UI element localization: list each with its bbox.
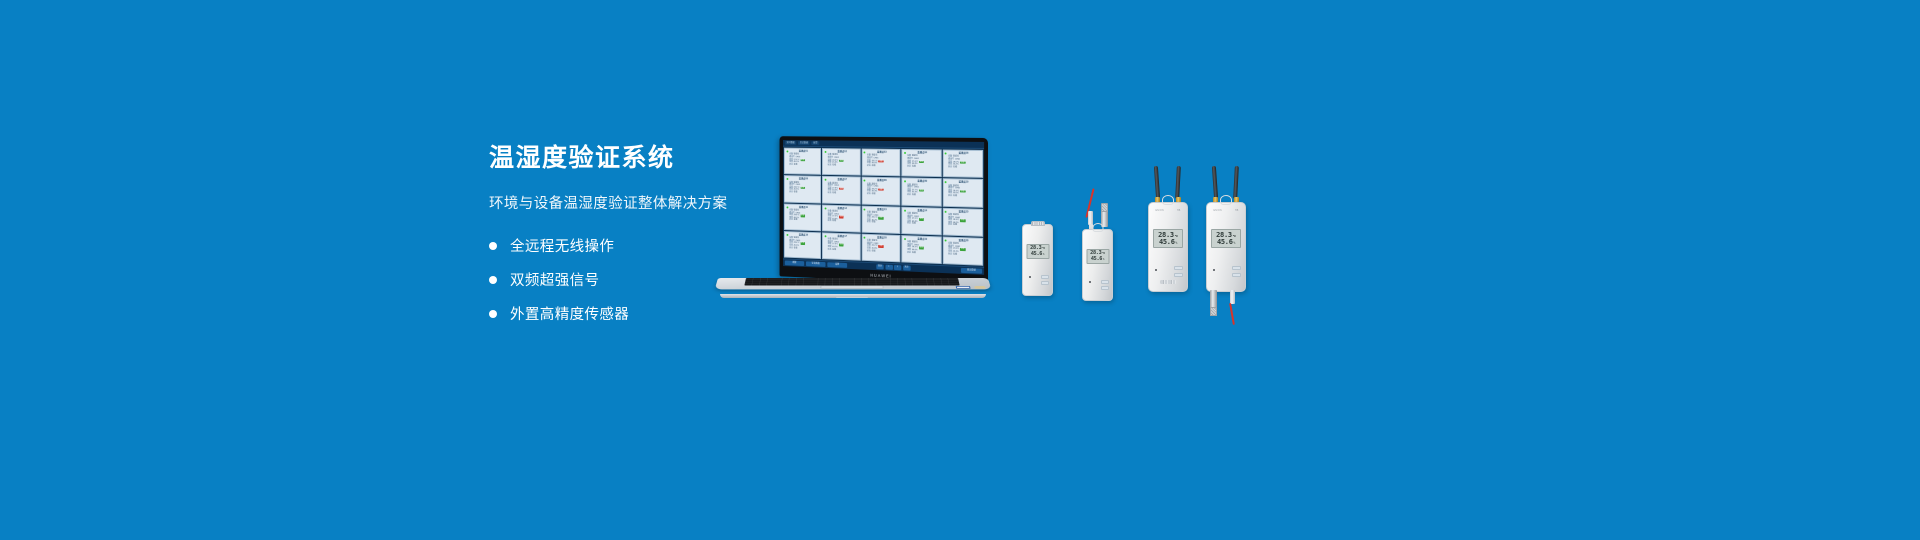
sensor-device-group: 28.3 ℃ 45.6 %: [1000, 180, 1230, 320]
device-led-icon: [1155, 269, 1157, 271]
sensor-card[interactable]: 监测点07设备验证仪通道号CH01温度27.8℃报警湿度44.5%状态在线: [822, 176, 860, 204]
sensor-card-value: 在线: [794, 192, 798, 195]
device-brand-row: EN/ON HB: [1207, 210, 1245, 212]
sensor-card-key: 状态: [948, 253, 952, 256]
lcd-humidity-unit: %: [1175, 242, 1177, 245]
tab-alarm[interactable]: 报警: [812, 141, 820, 145]
sensor-card-row: 状态在线: [946, 195, 981, 198]
antenna-right-icon: [1233, 166, 1239, 199]
sensor-status-badge: 正常: [800, 242, 805, 245]
lcd-humidity-value: 45.6: [1091, 257, 1102, 262]
humidity-probe-filter-icon: [1210, 307, 1217, 316]
probe-wire: [1229, 303, 1234, 325]
sensor-card-value: 在线: [872, 193, 876, 196]
sensor-card[interactable]: 监测点08设备验证仪通道号CH01温度28.2℃报警湿度46.3%状态在线: [861, 177, 900, 205]
sensor-status-badge: 正常: [960, 219, 965, 222]
bullet-dot-icon: [489, 242, 497, 250]
page-1-button[interactable]: 1: [885, 265, 892, 270]
humidity-probe-filter-icon: [1101, 203, 1108, 212]
device-hanging-loop: [1092, 223, 1103, 232]
sensor-status-badge: 正常: [800, 215, 805, 218]
status-led-icon: [825, 235, 827, 237]
sensor-card-row: 状态在线: [946, 224, 981, 228]
sensor-card[interactable]: 监测点15设备验证仪通道号CH01温度28.3℃正常湿度46.2%状态在线: [942, 207, 983, 236]
device-body: EN/ON HB 28.3 ℃ 45.6 %: [1206, 202, 1246, 292]
device-lcd: 28.3 ℃ 45.6 %: [1153, 229, 1183, 248]
sensor-card-key: 状态: [828, 192, 832, 195]
sensor-card-row: 状态在线: [946, 166, 981, 169]
sensor-card-key: 状态: [907, 166, 911, 169]
lcd-temperature-unit: ℃: [1233, 235, 1236, 238]
sensor-card-row: 状态在线: [905, 223, 939, 227]
sensor-card-key: 状态: [789, 191, 793, 194]
sensor-card-key: 状态: [828, 248, 832, 251]
device-lcd: 28.3 ℃ 45.6 %: [1086, 249, 1109, 264]
status-led-icon: [786, 178, 788, 180]
sensor-card-key: 状态: [907, 194, 911, 197]
page-2-button[interactable]: 2: [894, 265, 901, 270]
device-hanging-loop: [1220, 195, 1232, 205]
sensor-grill-icon: [1031, 221, 1045, 226]
status-led-icon: [904, 181, 906, 183]
sensor-card[interactable]: 监测点05设备验证仪通道号CH01温度28.0℃正常湿度45.2%状态在线: [942, 149, 983, 178]
device-hanging-loop: [1162, 195, 1174, 205]
export-button[interactable]: 导出报表: [806, 261, 826, 267]
device-button-pad[interactable]: [1041, 275, 1049, 286]
sensor-card-key: 状态: [867, 250, 871, 253]
status-led-icon: [825, 151, 827, 153]
sensor-status-badge: 正常: [919, 218, 924, 221]
sensor-card-value: 在线: [953, 195, 957, 198]
device-brand-left: EN/ON: [1214, 210, 1222, 212]
sensor-card-key: 状态: [867, 165, 871, 168]
device-button-up[interactable]: [1101, 280, 1109, 284]
status-led-icon: [786, 234, 788, 236]
sensor-status-badge: 正常: [919, 161, 924, 164]
device-button-pad[interactable]: [1232, 266, 1241, 278]
sensor-card[interactable]: 监测点06设备验证仪通道号CH01温度28.5℃正常湿度45.9%状态在线: [784, 175, 821, 203]
sensor-card-key: 状态: [828, 164, 832, 167]
laptop-lid: 实时数据 历史数据 报警 监测点01设备验证仪通道号CH01温度27.9℃正常湿…: [780, 136, 988, 286]
temperature-probe-connector: [1088, 211, 1093, 225]
status-led-icon: [904, 209, 906, 211]
sensor-card-grid: 监测点01设备验证仪通道号CH01温度27.9℃正常湿度45.1%状态在线监测点…: [783, 147, 984, 267]
sensor-status-badge: 正常: [919, 247, 924, 250]
device-large-dualband-external-probe: EN/ON HB 28.3 ℃ 45.6 %: [1206, 202, 1246, 292]
device-small-external-probe: 28.3 ℃ 45.6 %: [1082, 224, 1113, 301]
bullet-dot-icon: [489, 276, 497, 284]
lcd-humidity-value: 45.6: [1031, 252, 1042, 257]
device-large-dualband: EN/ON HB 28.3 ℃ 45.6 %: [1148, 202, 1188, 292]
lcd-temperature-unit: ℃: [1175, 235, 1178, 238]
sensor-card-value: 在线: [872, 222, 876, 225]
sensor-card-value: 在线: [794, 219, 798, 222]
sensor-card-key: 状态: [789, 219, 793, 222]
sensor-card-row: 状态在线: [826, 192, 859, 195]
tab-realtime[interactable]: 实时数据: [785, 141, 797, 145]
sensor-card-row: 状态在线: [787, 247, 819, 251]
feature-label: 全远程无线操作: [510, 235, 614, 256]
sensor-card-row: 状态在线: [905, 194, 939, 197]
sensor-card[interactable]: 监测点18设备验证仪通道号CH01温度28.2℃报警湿度45.8%状态在线: [861, 233, 900, 262]
sensor-card[interactable]: 监测点09设备验证仪通道号CH01温度27.7℃正常湿度45.4%状态在线: [901, 178, 941, 207]
sensor-card[interactable]: 监测点14设备验证仪通道号CH01温度27.9℃正常湿度45.3%状态在线: [901, 206, 941, 235]
device-brand-row: EN/ON HB: [1149, 210, 1187, 212]
laptop-sticker-blue: [956, 286, 971, 289]
lcd-humidity-unit: %: [1233, 242, 1235, 245]
device-button-pad[interactable]: [1101, 280, 1109, 291]
laptop-sticker-gold: [974, 286, 986, 289]
sensor-status-badge: 正常: [960, 248, 965, 251]
sensor-card[interactable]: 监测点01设备验证仪通道号CH01温度27.9℃正常湿度45.1%状态在线: [784, 148, 821, 175]
sensor-card-row: 状态在线: [826, 220, 859, 224]
device-button-down[interactable]: [1232, 273, 1241, 278]
sensor-card-row: 状态在线: [946, 253, 981, 257]
sensor-card-key: 状态: [948, 195, 952, 198]
device-led-icon: [1029, 276, 1031, 278]
status-led-icon: [786, 206, 788, 208]
feature-label: 外置高精度传感器: [510, 303, 629, 324]
lcd-humidity-row: 45.6 %: [1091, 257, 1104, 262]
sensor-status-badge: 正常: [839, 159, 844, 162]
bullet-dot-icon: [489, 310, 497, 318]
sensor-status-badge: 正常: [960, 161, 965, 164]
sensor-card[interactable]: 监测点13设备验证仪通道号CH01温度28.1℃正常湿度45.7%状态在线: [861, 205, 900, 234]
sensor-card[interactable]: 监测点12设备验证仪通道号CH01温度27.5℃报警湿度44.9%状态在线: [822, 204, 860, 232]
feature-label: 双频超强信号: [510, 269, 599, 290]
page-last-button[interactable]: 末页: [903, 265, 910, 270]
laptop-palmrest: [715, 278, 992, 289]
sensor-card-value: 在线: [912, 223, 916, 226]
lcd-humidity-value: 45.6: [1159, 239, 1175, 246]
sensor-card-key: 状态: [907, 251, 911, 254]
sensor-card-value: 在线: [872, 165, 876, 168]
device-lcd: 28.3 ℃ 45.6 %: [1211, 229, 1241, 248]
device-small-internal: 28.3 ℃ 45.6 %: [1022, 224, 1053, 296]
sensor-card[interactable]: 监测点20设备验证仪通道号CH01温度27.8℃正常湿度45.1%状态在线: [942, 236, 983, 266]
sensor-status-badge: 报警: [839, 216, 844, 219]
device-led-icon: [1213, 269, 1215, 271]
sensor-status-badge: 正常: [878, 217, 883, 220]
sensor-card-value: 在线: [912, 166, 916, 169]
sensor-card-value: 在线: [953, 224, 957, 227]
promo-banner: 温湿度验证系统 环境与设备温湿度验证整体解决方案 全远程无线操作 双频超强信号 …: [0, 0, 1920, 540]
status-led-icon: [904, 238, 906, 240]
device-button-pad[interactable]: [1174, 266, 1183, 278]
antenna-right-icon: [1175, 166, 1181, 199]
sensor-card-value: 在线: [832, 221, 836, 224]
lcd-humidity-unit: %: [1043, 254, 1044, 257]
sensor-card-row: 状态在线: [826, 164, 859, 167]
logout-button[interactable]: 退出登录: [961, 268, 982, 274]
sensor-card-key: 状态: [828, 220, 832, 223]
sensor-card-row: 状态在线: [826, 248, 859, 252]
device-button-down[interactable]: [1101, 286, 1109, 290]
lcd-humidity-unit: %: [1103, 259, 1104, 262]
status-led-icon: [945, 239, 947, 241]
sensor-card-value: 在线: [953, 253, 957, 256]
sensor-card-row: 状态在线: [905, 251, 939, 255]
sensor-card[interactable]: 监测点11设备验证仪通道号CH01温度28.6℃正常湿度46.1%状态在线: [784, 203, 821, 231]
sensor-card-value: 在线: [912, 252, 916, 255]
device-button-down[interactable]: [1174, 273, 1183, 278]
sensor-vent-icon: [1160, 280, 1176, 284]
laptop-product-image: 实时数据 历史数据 报警 监测点01设备验证仪通道号CH01温度27.9℃正常湿…: [718, 138, 988, 298]
sensor-card[interactable]: 监测点10设备验证仪通道号CH01温度28.4℃正常湿度45.0%状态在线: [942, 178, 983, 207]
sensor-card[interactable]: 监测点03设备验证仪通道号CH01温度28.1℃报警湿度46.0%状态在线: [861, 149, 900, 177]
device-button-up[interactable]: [1041, 275, 1049, 279]
list-item: 外置高精度传感器: [489, 303, 909, 324]
sensor-card-row: 状态在线: [905, 166, 939, 169]
sensor-card[interactable]: 监测点16设备验证仪通道号CH01温度28.0℃正常湿度45.5%状态在线: [784, 231, 821, 259]
sensor-card-key: 状态: [789, 164, 793, 167]
device-body: 28.3 ℃ 45.6 %: [1082, 229, 1113, 301]
device-button-down[interactable]: [1041, 281, 1049, 285]
sensor-card-key: 状态: [789, 247, 793, 250]
sensor-status-badge: 报警: [878, 160, 883, 163]
sensor-card-value: 在线: [832, 192, 836, 195]
sensor-card-key: 状态: [907, 223, 911, 226]
sensor-card[interactable]: 监测点19设备验证仪通道号CH01温度28.4℃正常湿度46.0%状态在线: [901, 235, 941, 264]
refresh-button[interactable]: 刷新: [785, 260, 804, 266]
sensor-status-badge: 正常: [800, 159, 805, 162]
sensor-card-key: 状态: [867, 222, 871, 225]
device-button-up[interactable]: [1174, 266, 1183, 271]
sensor-card-row: 状态在线: [865, 165, 899, 168]
device-led-icon: [1089, 281, 1091, 283]
laptop-keyboard[interactable]: [744, 278, 959, 285]
sensor-card-row: 状态在线: [787, 191, 819, 194]
sensor-card[interactable]: 监测点04设备验证仪通道号CH01温度27.6℃正常湿度44.8%状态在线: [901, 149, 941, 177]
settings-button[interactable]: 设置: [827, 262, 847, 268]
sensor-card-key: 状态: [948, 166, 952, 169]
antenna-left-icon: [1212, 166, 1218, 199]
lcd-humidity-row: 45.6 %: [1031, 252, 1044, 257]
sensor-status-badge: 正常: [839, 244, 844, 247]
sensor-card-value: 在线: [794, 164, 798, 167]
sensor-card-row: 状态在线: [787, 164, 819, 167]
antenna-left-icon: [1154, 166, 1160, 199]
device-brand-right: HB: [1177, 210, 1181, 212]
sensor-card-value: 在线: [953, 166, 957, 169]
sensor-card[interactable]: 监测点02设备验证仪通道号CH01温度28.3℃正常湿度45.6%状态在线: [822, 148, 860, 176]
lcd-humidity-row: 45.6 %: [1217, 239, 1235, 246]
sensor-card-value: 在线: [794, 247, 798, 250]
device-brand-right: HB: [1235, 210, 1239, 212]
status-led-icon: [825, 207, 827, 209]
sensor-card[interactable]: 监测点17设备验证仪通道号CH01温度27.6℃正常湿度44.7%状态在线: [822, 232, 860, 261]
sensor-card-value: 在线: [912, 194, 916, 197]
temperature-probe-connector: [1230, 290, 1235, 304]
status-led-icon: [904, 152, 906, 154]
sensor-card-row: 状态在线: [787, 219, 819, 222]
status-led-icon: [945, 210, 947, 212]
sensor-card-value: 在线: [872, 250, 876, 253]
sensor-card-value: 在线: [832, 249, 836, 252]
page-first-button[interactable]: 首页: [876, 264, 883, 269]
device-body: EN/ON HB 28.3 ℃ 45.6 %: [1148, 202, 1188, 292]
sensor-status-badge: 报警: [878, 245, 883, 248]
sensor-card-value: 在线: [832, 164, 836, 167]
device-lcd: 28.3 ℃ 45.6 %: [1026, 244, 1049, 259]
device-button-up[interactable]: [1232, 266, 1241, 271]
laptop-trackpad[interactable]: [820, 286, 883, 289]
tab-history[interactable]: 历史数据: [798, 141, 810, 145]
laptop-open-notch: [836, 297, 868, 299]
lcd-humidity-value: 45.6: [1217, 239, 1233, 246]
device-body: 28.3 ℃ 45.6 %: [1022, 224, 1053, 296]
dashboard-screen: 实时数据 历史数据 报警 监测点01设备验证仪通道号CH01温度27.9℃正常湿…: [783, 140, 984, 275]
laptop-base: [718, 278, 988, 300]
sensor-card-row: 状态在线: [865, 222, 899, 226]
sensor-card-key: 状态: [948, 224, 952, 227]
sensor-card-key: 状态: [867, 193, 871, 196]
status-led-icon: [786, 150, 788, 152]
lcd-humidity-row: 45.6 %: [1159, 239, 1177, 246]
sensor-card-row: 状态在线: [865, 250, 899, 254]
device-brand-left: EN/ON: [1156, 210, 1164, 212]
sensor-card-row: 状态在线: [865, 193, 899, 196]
